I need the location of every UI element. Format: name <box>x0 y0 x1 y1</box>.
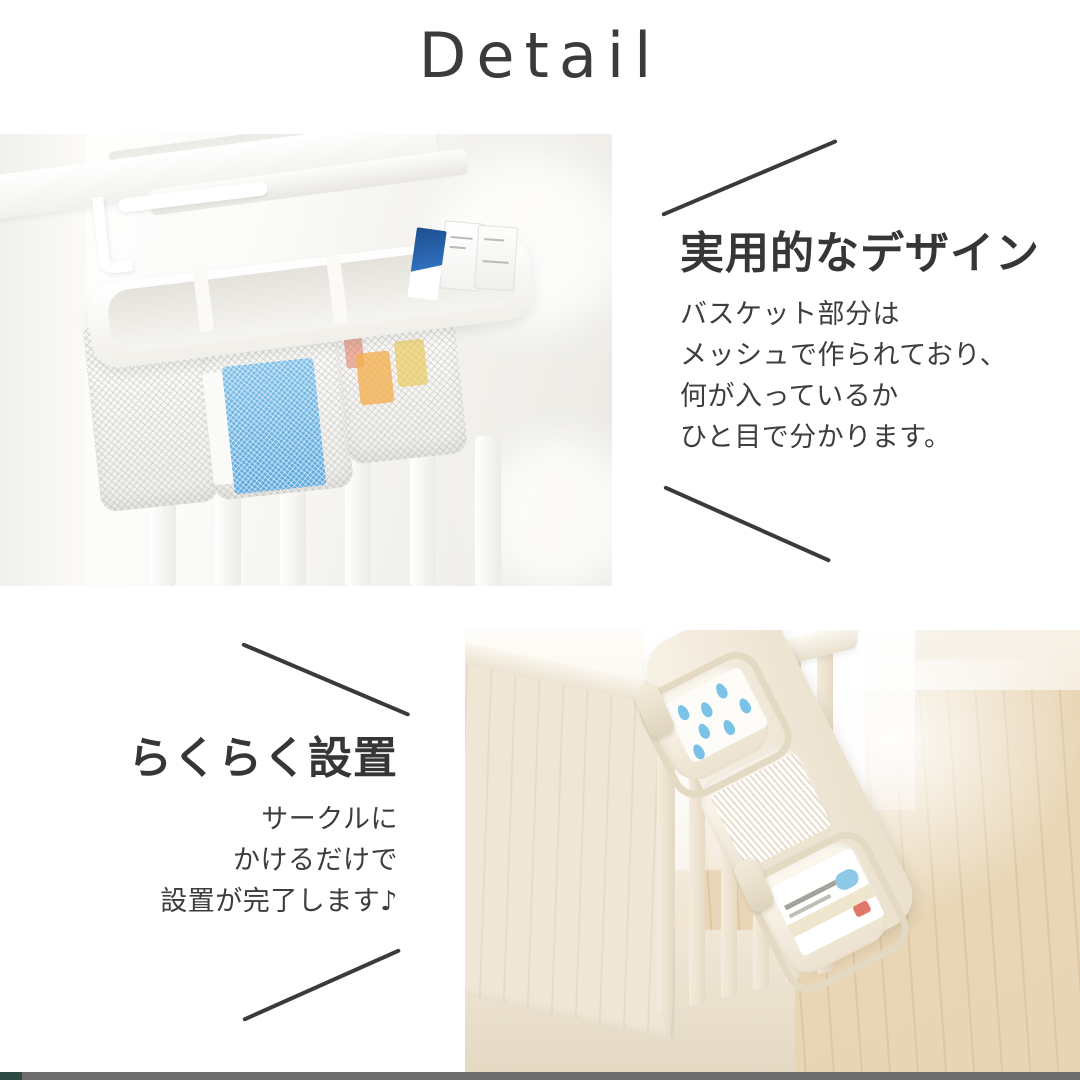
practical-design-body-line: 何が入っているか <box>680 376 1060 417</box>
colorful-item <box>355 350 394 405</box>
bottom-strip-accent <box>0 1072 22 1080</box>
white-packet <box>474 225 518 292</box>
practical-design-body-line: バスケット部分は <box>680 294 1060 335</box>
playpen-with-organizer-photo <box>465 630 1080 1073</box>
diagonal-accent-line-bottom-left-lower <box>242 948 401 1022</box>
easy-setup-text-block: らくらく設置 サークルに かけるだけで 設置が完了します♪ <box>20 733 398 922</box>
practical-design-heading: 実用的なデザイン <box>680 228 1060 280</box>
bottom-strip <box>0 1072 1080 1080</box>
practical-design-body-line: メッシュで作られており、 <box>680 335 1060 376</box>
easy-setup-body-line: かけるだけで <box>20 840 398 881</box>
basket-on-crib-rail-photo <box>0 134 612 586</box>
practical-design-text-block: 実用的なデザイン バスケット部分は メッシュで作られており、 何が入っているか … <box>680 228 1060 458</box>
detail-page: Detail <box>0 0 1080 1080</box>
easy-setup-body-line: 設置が完了します♪ <box>20 881 398 922</box>
practical-design-body-line: ひと目で分かります。 <box>680 417 1060 458</box>
easy-setup-body-line: サークルに <box>20 799 398 840</box>
diagonal-accent-line-top-right-upper <box>661 139 837 217</box>
crib-slat <box>410 436 436 586</box>
diagonal-accent-line-bottom-left-upper <box>241 642 410 717</box>
easy-setup-heading: らくらく設置 <box>20 733 398 785</box>
colorful-item <box>394 339 429 388</box>
diagonal-accent-line-top-right-lower <box>663 485 831 563</box>
blue-patterned-item <box>222 358 327 495</box>
crib-slat <box>475 436 501 586</box>
page-title: Detail <box>0 22 1080 90</box>
